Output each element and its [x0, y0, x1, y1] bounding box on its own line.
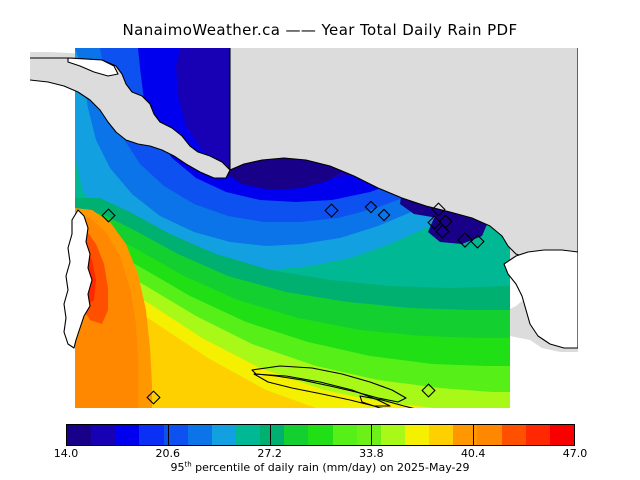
- colorbar-tick-label-3: 33.8: [359, 447, 384, 460]
- colorbar-swatch-20: [550, 425, 574, 445]
- colorbar-swatch-16: [453, 425, 477, 445]
- colorbar-swatch-13: [381, 425, 405, 445]
- colorbar-swatch-9: [284, 425, 308, 445]
- colorbar[interactable]: 14.020.627.233.840.447.0 95th percentile…: [0, 424, 640, 480]
- colorbar-swatch-8: [260, 425, 284, 445]
- caption-ordinal-suffix: th: [184, 460, 191, 468]
- colorbar-swatch-3: [139, 425, 163, 445]
- weather-map-figure: NanaimoWeather.ca —— Year Total Daily Ra…: [0, 0, 640, 480]
- colorbar-swatch-6: [212, 425, 236, 445]
- figure-title: NanaimoWeather.ca —— Year Total Daily Ra…: [0, 21, 640, 39]
- colorbar-tick-label-2: 27.2: [257, 447, 282, 460]
- colorbar-tick-labels: 14.020.627.233.840.447.0: [0, 447, 640, 461]
- colorbar-swatch-2: [115, 425, 139, 445]
- colorbar-swatches[interactable]: [66, 424, 575, 446]
- caption-value: 95: [170, 461, 184, 474]
- colorbar-swatch-5: [188, 425, 212, 445]
- colorbar-caption: 95th percentile of daily rain (mm/day) o…: [0, 461, 640, 474]
- colorbar-swatch-12: [357, 425, 381, 445]
- colorbar-tick-label-4: 40.4: [461, 447, 486, 460]
- colorbar-swatch-17: [477, 425, 501, 445]
- colorbar-swatch-10: [308, 425, 332, 445]
- map-svg: [30, 48, 578, 408]
- colorbar-swatch-19: [526, 425, 550, 445]
- colorbar-tick-label-0: 14.0: [54, 447, 79, 460]
- colorbar-swatch-0: [67, 425, 91, 445]
- colorbar-swatch-14: [405, 425, 429, 445]
- colorbar-swatch-11: [333, 425, 357, 445]
- colorbar-swatch-4: [164, 425, 188, 445]
- colorbar-tick-label-5: 47.0: [563, 447, 588, 460]
- colorbar-swatch-15: [429, 425, 453, 445]
- colorbar-swatch-7: [236, 425, 260, 445]
- colorbar-swatch-1: [91, 425, 115, 445]
- map-plot-area[interactable]: [30, 48, 578, 408]
- caption-text: percentile of daily rain (mm/day) on 202…: [192, 461, 470, 474]
- colorbar-tick-label-1: 20.6: [156, 447, 181, 460]
- colorbar-swatch-18: [502, 425, 526, 445]
